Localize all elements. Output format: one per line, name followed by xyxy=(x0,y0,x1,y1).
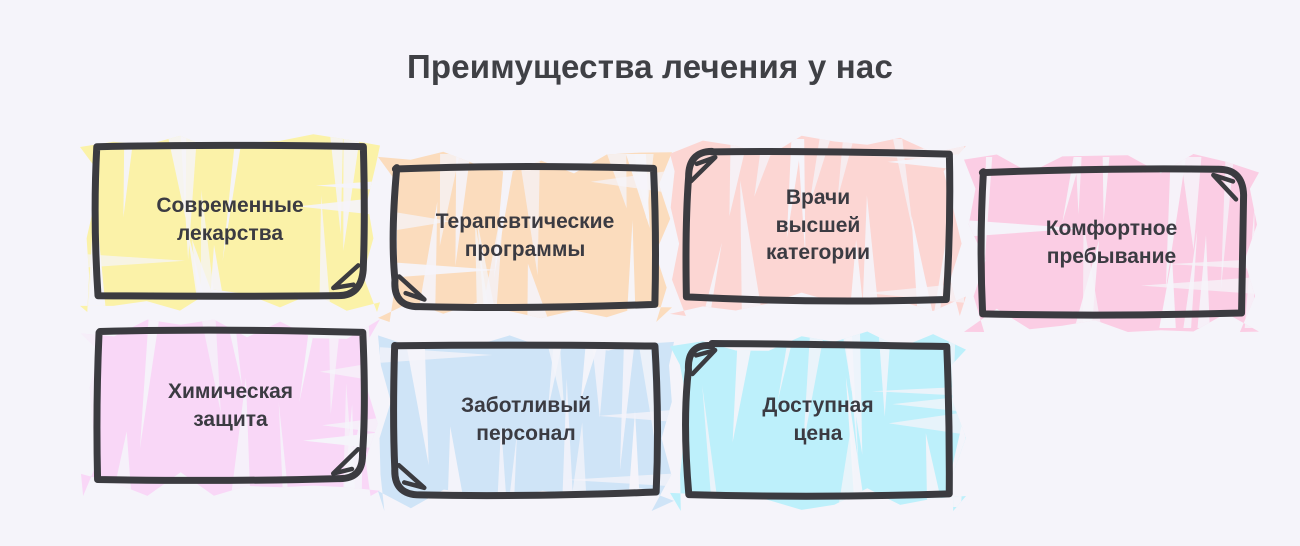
benefit-card-label: Терапевтические программы xyxy=(394,166,656,306)
benefit-card-label: Заботливый персонал xyxy=(394,345,658,495)
benefit-card-zabotlivyy-personal[interactable]: Заботливый персонал xyxy=(394,345,658,495)
benefit-card-komfortnoe-prebyvanie[interactable]: Комфортное пребывание xyxy=(980,169,1243,316)
benefit-card-label: Химическая защита xyxy=(97,331,364,480)
benefit-card-label: Врачи высшей категории xyxy=(686,151,950,300)
benefit-card-label: Доступная цена xyxy=(686,344,950,495)
benefit-card-dostupnaya-cena[interactable]: Доступная цена xyxy=(686,344,950,495)
benefit-card-vrachi-vysshey-kategorii[interactable]: Врачи высшей категории xyxy=(686,151,950,300)
benefit-card-label: Современные лекарства xyxy=(96,144,364,296)
page-title: Преимущества лечения у нас xyxy=(0,48,1300,86)
benefit-card-label: Комфортное пребывание xyxy=(980,169,1243,316)
infographic-canvas: Преимущества лечения у нас Современные л… xyxy=(0,0,1300,546)
benefit-card-sovremennye-lekarstva[interactable]: Современные лекарства xyxy=(96,144,364,296)
benefit-card-himicheskaya-zashchita[interactable]: Химическая защита xyxy=(97,331,364,480)
benefit-card-terapevticheskie-programmy[interactable]: Терапевтические программы xyxy=(394,166,656,306)
